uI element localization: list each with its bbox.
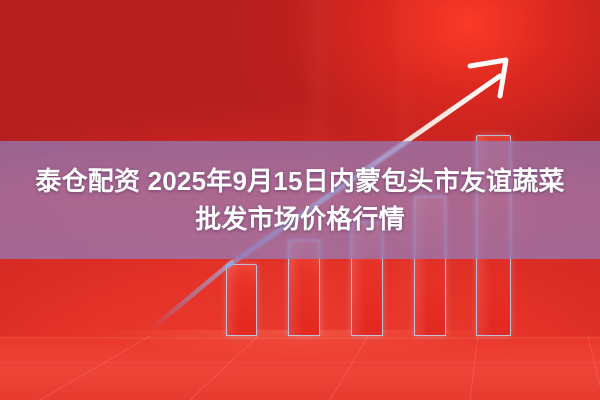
poster-canvas: 泰仓配资 2025年9月15日内蒙包头市友谊蔬菜 批发市场价格行情	[0, 0, 600, 400]
chart-bar	[226, 264, 257, 336]
title-line-1: 泰仓配资 2025年9月15日内蒙包头市友谊蔬菜	[35, 164, 564, 198]
title-line-2: 批发市场价格行情	[195, 202, 405, 236]
bar-sheen	[227, 265, 239, 335]
poster-title: 泰仓配资 2025年9月15日内蒙包头市友谊蔬菜 批发市场价格行情	[0, 141, 600, 259]
